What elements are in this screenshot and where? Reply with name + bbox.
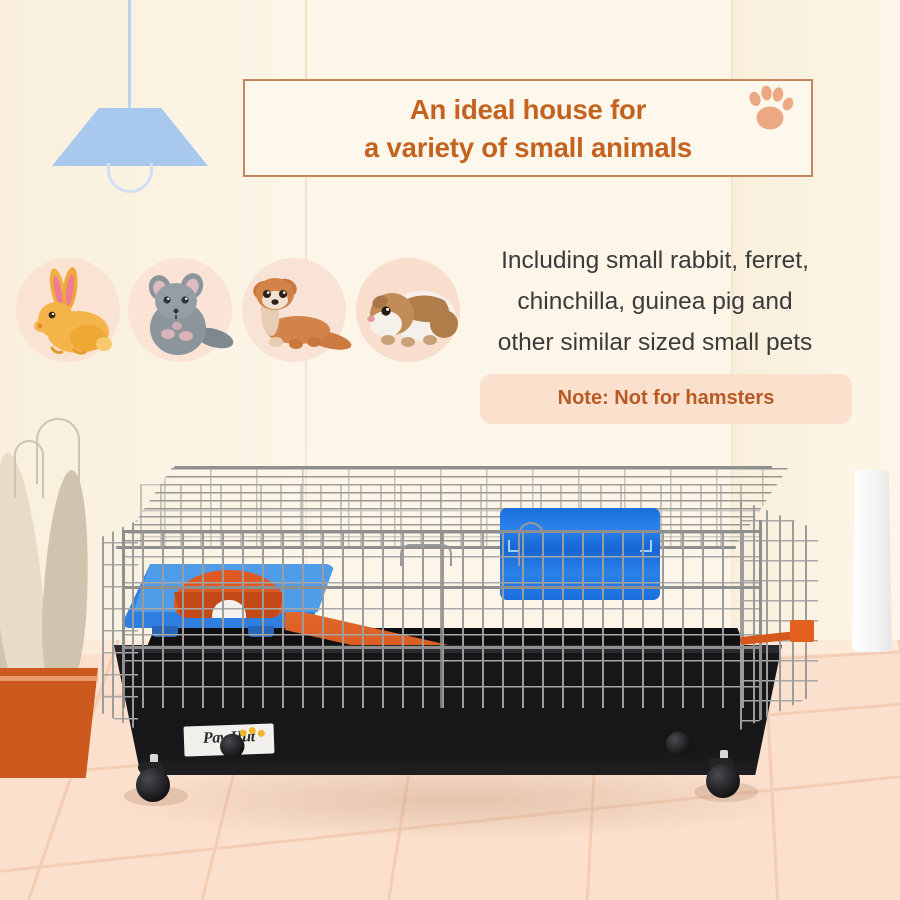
- caster-wheel: [666, 732, 690, 756]
- animal-circle-chinchilla: [128, 258, 232, 362]
- cage-wire-right: [740, 500, 818, 730]
- cage-frame-bar-top-back: [174, 466, 772, 469]
- animal-circle-ferret: [242, 258, 346, 362]
- cage-wire-left: [102, 520, 138, 730]
- animal-icon-row: [10, 258, 460, 388]
- caster-wheel: [220, 734, 244, 758]
- lamp-cord: [128, 0, 131, 108]
- note-badge-label: Note: Not for hamsters: [480, 387, 852, 410]
- animal-circle-guinea-pig: [356, 258, 460, 362]
- description-line-2: chinchilla, guinea pig and: [440, 281, 870, 322]
- cage-door-handle[interactable]: [400, 544, 452, 566]
- description-line-1: Including small rabbit, ferret,: [440, 240, 870, 281]
- water-bottle: [852, 470, 892, 652]
- description-line-3: other similar sized small pets: [440, 322, 870, 363]
- plant-pot-rim: [0, 676, 98, 681]
- caster-wheel: [136, 768, 170, 802]
- plant-stem: [14, 440, 44, 498]
- note-badge: Note: Not for hamsters: [480, 374, 852, 424]
- product-cage: PawHut: [100, 460, 900, 880]
- headline-banner: An ideal house for a variety of small an…: [243, 79, 813, 177]
- caster-wheel: [706, 764, 740, 798]
- animal-circle-rabbit: [16, 258, 120, 362]
- rabbit-icon: [16, 258, 120, 362]
- cage-frame-bar-left: [122, 530, 125, 708]
- headline-line-2: a variety of small animals: [245, 129, 811, 167]
- plant-pot: [0, 668, 98, 778]
- cage-frame-bar-right: [759, 520, 762, 720]
- description-text: Including small rabbit, ferret, chinchil…: [440, 240, 870, 363]
- marketing-image-stage: An ideal house for a variety of small an…: [0, 0, 900, 900]
- paw-print-icon: [744, 85, 798, 133]
- chinchilla-icon: [128, 258, 232, 362]
- headline-line-1: An ideal house for: [245, 91, 811, 129]
- orange-clip: [790, 620, 814, 642]
- ferret-icon: [242, 258, 346, 362]
- guinea-pig-icon: [356, 258, 460, 362]
